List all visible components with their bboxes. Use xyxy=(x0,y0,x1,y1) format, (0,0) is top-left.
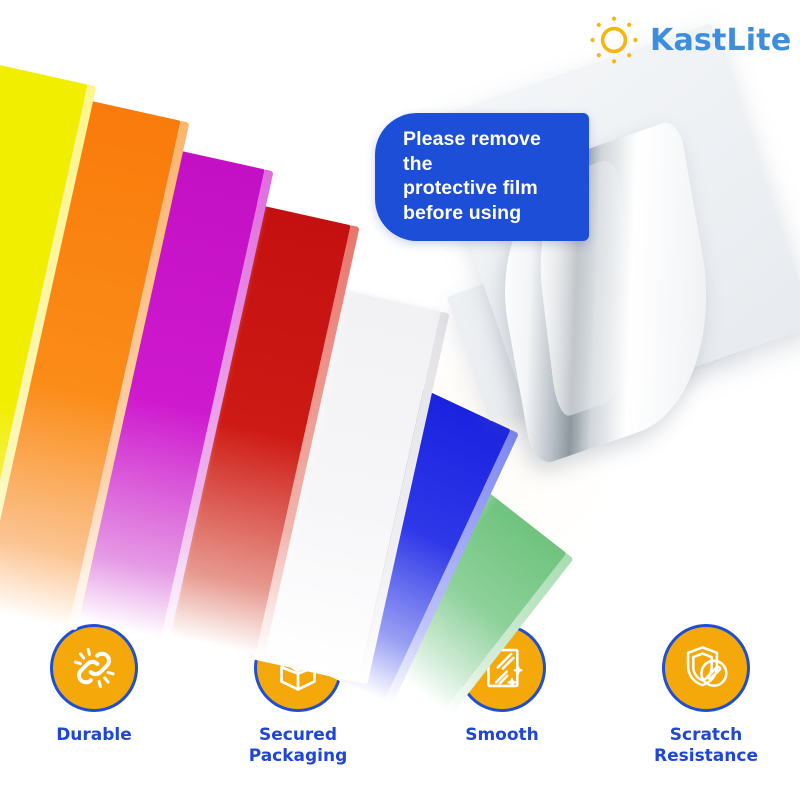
brand-logo: KastLite xyxy=(588,14,791,66)
feature-label: Durable xyxy=(56,725,132,745)
feature-durable[interactable]: Durable xyxy=(38,624,150,745)
sun-icon xyxy=(588,14,640,66)
badge-circle[interactable] xyxy=(50,624,138,712)
feature-label: Scratch Resistance xyxy=(654,725,758,766)
feature-scratch-resistance[interactable]: Scratch Resistance xyxy=(650,624,762,766)
badge-circle[interactable] xyxy=(662,624,750,712)
product-marketing-image: KastLite Please remove the protective fi… xyxy=(0,0,800,800)
feature-label: Secured Packaging xyxy=(249,725,348,766)
shield-blade-icon xyxy=(678,640,734,696)
brand-wordmark: KastLite xyxy=(650,23,791,58)
protective-film-callout: Please remove the protective film before… xyxy=(375,113,589,241)
chain-link-icon xyxy=(65,639,123,697)
feature-label: Smooth xyxy=(465,725,539,745)
